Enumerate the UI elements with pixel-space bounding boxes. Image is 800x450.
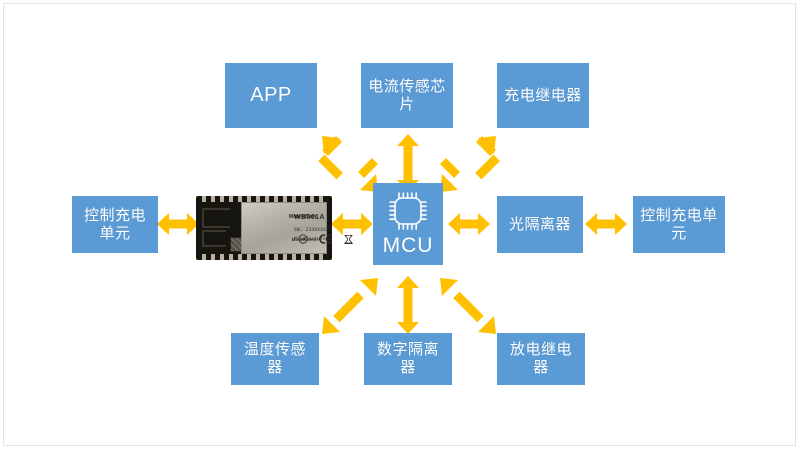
node-app-label: APP xyxy=(244,84,298,108)
arrow-mcu-app xyxy=(322,136,378,192)
node-digital-isolator-label: 数字隔离器 xyxy=(364,341,452,376)
ce-mark-icon xyxy=(319,234,333,244)
node-opto-isolator-label: 光隔离器 xyxy=(503,216,577,234)
node-temp-sensor-label: 温度传感器 xyxy=(231,341,319,376)
node-discharge-relay[interactable]: 放电继电器 xyxy=(497,333,585,385)
node-charge-relay-label: 充电继电器 xyxy=(498,87,588,105)
module-brand: MinewSemi xyxy=(289,214,318,220)
diagram-canvas: APP 电流传感芯片 充电继电器 控制充电单元 WB501A MinewSemi… xyxy=(0,0,800,450)
module-antenna-trace xyxy=(202,208,230,228)
node-charge-relay[interactable]: 充电继电器 xyxy=(497,63,589,128)
module-serial: SN: 234XXXXX1 xyxy=(294,228,332,233)
arrow-opto-isolator-charge-unit-right xyxy=(585,213,627,235)
node-charge-unit-right[interactable]: 控制充电单元 xyxy=(633,196,725,253)
arrow-mcu-digital-isolator xyxy=(397,276,419,334)
node-charge-unit-left[interactable]: 控制充电单元 xyxy=(72,196,158,253)
arrow-module-mcu xyxy=(331,213,373,235)
node-digital-isolator[interactable]: 数字隔离器 xyxy=(364,333,452,385)
node-current-sensor-label: 电流传感芯片 xyxy=(361,78,453,113)
node-mcu[interactable]: MCU xyxy=(373,183,443,265)
node-discharge-relay-label: 放电继电器 xyxy=(497,341,585,376)
node-current-sensor[interactable]: 电流传感芯片 xyxy=(361,63,453,128)
module-serial-value: 234XXXXX1 xyxy=(306,228,332,233)
module-antenna-trace-2 xyxy=(202,230,226,247)
node-app[interactable]: APP xyxy=(225,63,317,128)
module-certification-marks xyxy=(298,234,353,244)
node-charge-unit-right-label: 控制充电单元 xyxy=(633,207,725,242)
node-mcu-label: MCU xyxy=(377,233,440,259)
module-serial-label: SN: xyxy=(294,228,303,233)
node-temp-sensor[interactable]: 温度传感器 xyxy=(231,333,319,385)
arrow-mcu-temp-sensor xyxy=(322,278,378,334)
arrow-charge-unit-left-module xyxy=(157,213,199,235)
weee-mark-icon xyxy=(344,234,353,244)
arrow-mcu-discharge-relay xyxy=(440,278,496,334)
wb501a-module-image: WB501A MinewSemi SN: 234XXXXX1 Manufactu… xyxy=(196,196,332,260)
ccc-mark-icon xyxy=(298,234,308,244)
microchip-icon xyxy=(386,191,430,231)
arrow-mcu-charge-relay xyxy=(440,136,496,192)
module-rf-shield: WB501A MinewSemi SN: 234XXXXX1 Manufactu… xyxy=(241,202,327,254)
node-opto-isolator[interactable]: 光隔离器 xyxy=(497,196,583,253)
node-charge-unit-left-label: 控制充电单元 xyxy=(72,207,158,242)
arrow-mcu-opto-isolator xyxy=(448,213,490,235)
